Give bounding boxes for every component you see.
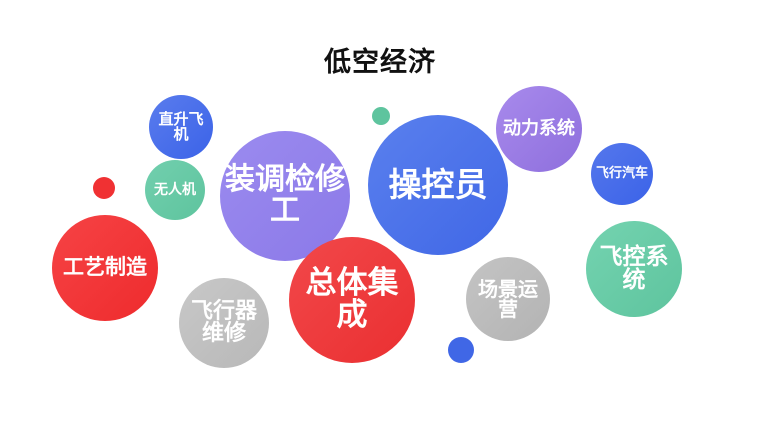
bubble-7[interactable]: 场景运营 [466,257,550,341]
bubble-chart-canvas: 低空经济 直升飞机无人机装调检修工操控员动力系统飞行汽车飞控系统场景运营总体集成… [0,0,760,427]
bubble-5[interactable]: 飞行汽车 [591,143,653,205]
bubble-label: 场景运营 [466,279,550,320]
bubble-8[interactable]: 总体集成 [289,237,415,363]
bubble-label: 无人机 [150,183,200,197]
bubble-label: 直升飞机 [149,112,213,143]
bubble-6[interactable]: 飞控系统 [586,221,682,317]
bubble-10[interactable]: 工艺制造 [52,215,158,321]
bubble-label: 总体集成 [289,268,415,331]
bubble-label: 飞行器维修 [179,301,269,346]
bubble-label: 飞行汽车 [592,167,652,180]
bubble-3[interactable]: 操控员 [368,115,508,255]
blue-dot [448,337,474,363]
bubble-label: 飞控系统 [586,246,682,293]
bubble-1[interactable]: 无人机 [145,160,205,220]
bubble-label: 操控员 [385,168,492,202]
bubble-0[interactable]: 直升飞机 [149,95,213,159]
bubble-label: 装调检修工 [220,165,350,226]
watermark-text: le [578,240,590,253]
bubble-9[interactable]: 飞行器维修 [179,278,269,368]
bubble-label: 动力系统 [499,120,579,138]
green-dot [372,107,390,125]
red-dot [93,177,115,199]
bubble-4[interactable]: 动力系统 [496,86,582,172]
bubble-label: 工艺制造 [59,257,151,278]
chart-title: 低空经济 [0,40,760,79]
